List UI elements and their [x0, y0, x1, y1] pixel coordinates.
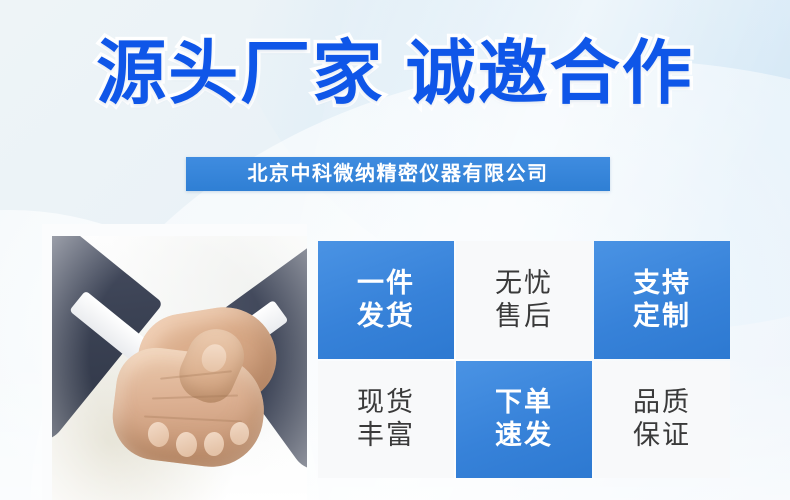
feature-cell-5-line2: 速发	[495, 419, 553, 452]
feature-cell-1: 一件 发货	[318, 241, 454, 359]
feature-cell-1-line1: 一件	[357, 267, 415, 300]
feature-cell-3: 支持 定制	[594, 241, 730, 359]
feature-cell-4-line1: 现货	[357, 386, 415, 419]
feature-cell-3-line2: 定制	[633, 300, 691, 333]
page-title: 源头厂家 诚邀合作	[0, 38, 790, 108]
feature-cell-4: 现货 丰富	[318, 361, 454, 479]
handshake-photo	[52, 236, 307, 500]
feature-cell-6-line2: 保证	[633, 419, 691, 452]
feature-cell-2-line2: 售后	[495, 300, 553, 333]
handshake-photo-frame	[42, 224, 307, 500]
photo-vignette	[52, 236, 307, 500]
feature-cell-2: 无忧 售后	[456, 241, 592, 359]
feature-cell-6-line1: 品质	[633, 386, 691, 419]
feature-cell-5-line1: 下单	[495, 386, 553, 419]
feature-cell-2-line1: 无忧	[495, 267, 553, 300]
feature-cell-5: 下单 速发	[456, 361, 592, 479]
company-name-text: 北京中科微纳精密仪器有限公司	[248, 164, 549, 184]
feature-grid: 一件 发货 无忧 售后 支持 定制 现货 丰富 下单 速发 品质 保证	[318, 241, 730, 478]
feature-cell-4-line2: 丰富	[357, 419, 415, 452]
feature-cell-6: 品质 保证	[594, 361, 730, 479]
promo-banner: 源头厂家 诚邀合作 北京中科微纳精密仪器有限公司 一件 发货	[0, 0, 790, 500]
company-name-bar: 北京中科微纳精密仪器有限公司	[186, 157, 610, 191]
feature-cell-3-line1: 支持	[633, 267, 691, 300]
feature-cell-1-line2: 发货	[357, 300, 415, 333]
